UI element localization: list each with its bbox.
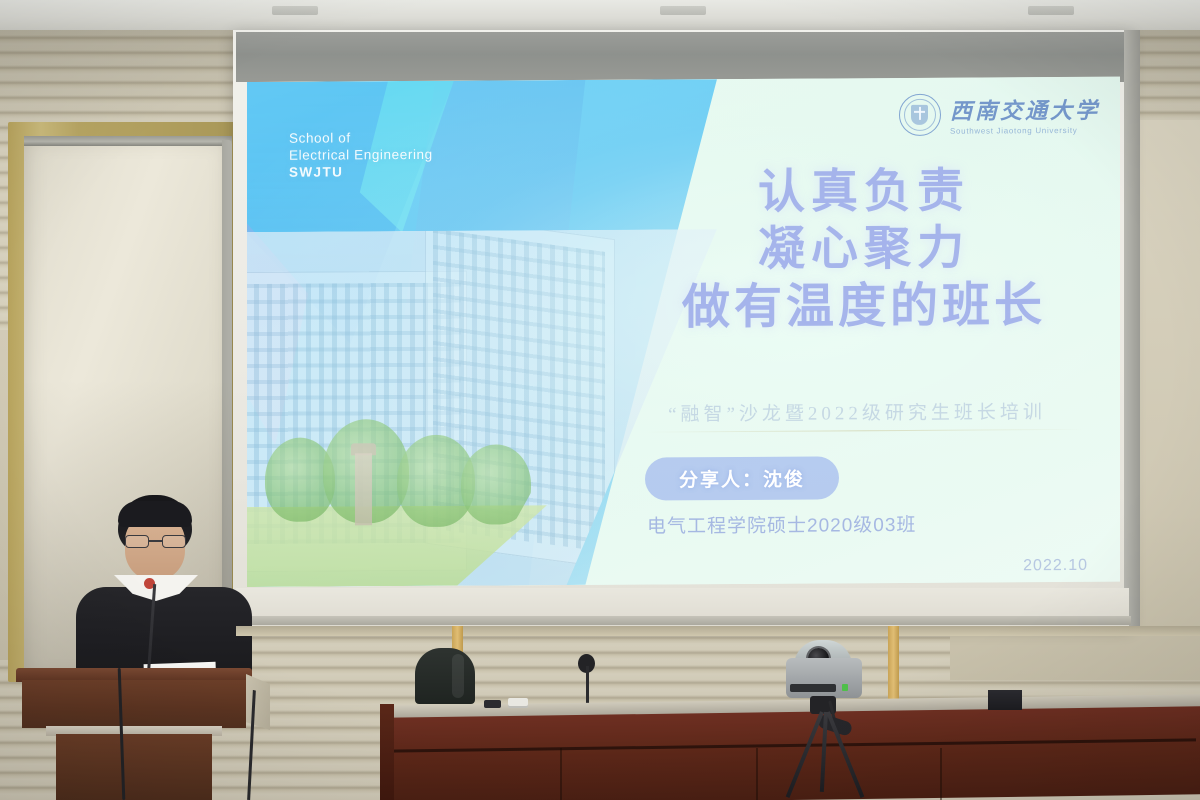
podium-base: [56, 734, 212, 800]
presenter-glasses: [125, 535, 186, 548]
ptz-video-camera: [772, 634, 902, 800]
slide-title-line3: 做有温度的班长: [644, 277, 1084, 337]
school-label-line3: SWJTU: [289, 163, 433, 181]
school-label: School of Electrical Engineering SWJTU: [289, 129, 433, 181]
chair-highlight: [452, 654, 464, 698]
glasses-lens-right: [162, 535, 186, 548]
ceiling: [0, 0, 1200, 30]
podium-body: [22, 680, 246, 728]
ceiling-vent-icon: [272, 6, 318, 15]
camera-body: [786, 658, 862, 698]
screen-top-band: [236, 32, 1129, 82]
projected-slide: School of Electrical Engineering SWJTU 西…: [247, 77, 1120, 587]
table-panel-divider: [756, 748, 758, 800]
campus-monument-base: [355, 453, 372, 525]
presentation-scene: School of Electrical Engineering SWJTU 西…: [0, 0, 1200, 800]
tripod-leg: [786, 711, 824, 798]
glasses-lens-left: [125, 535, 149, 548]
university-crest-icon: [899, 94, 941, 136]
university-logo: 西南交通大学 Southwest Jiaotong University: [899, 93, 1100, 136]
speaker-badge: 分享人：沈俊: [645, 456, 839, 500]
university-name-cn: 西南交通大学: [950, 93, 1100, 126]
table-equipment: [988, 690, 1022, 710]
university-name-block: 西南交通大学 Southwest Jiaotong University: [950, 93, 1100, 136]
table-left-edge: [380, 704, 394, 800]
speaker-affiliation: 电气工程学院硕士2020级03班: [647, 510, 916, 539]
camera-status-led: [842, 684, 848, 691]
slide-title: 认真负责 凝心聚力 做有温度的班长: [644, 163, 1084, 337]
camera-port-strip: [790, 684, 836, 692]
crest-shield-icon: [911, 105, 928, 125]
chair: [415, 648, 475, 704]
table-name-card: [508, 698, 528, 708]
screen-right-trim: [1124, 30, 1140, 630]
table-panel-divider: [940, 748, 942, 800]
table-panel-divider: [560, 748, 562, 800]
ceiling-vent-icon: [1028, 6, 1074, 15]
wall-base-trim: [236, 626, 1200, 636]
slide-subtitle: “融智”沙龙暨2022级研究生班长培训: [622, 397, 1092, 427]
slide-title-line2: 凝心聚力: [644, 220, 1084, 280]
slide-title-line1: 认真负责: [644, 163, 1084, 223]
school-label-line2: Electrical Engineering: [289, 146, 433, 164]
glasses-bridge: [149, 540, 162, 542]
table-remote-device[interactable]: [484, 700, 501, 708]
university-name-en: Southwest Jiaotong University: [950, 126, 1100, 136]
school-label-line1: School of: [289, 129, 433, 147]
window-shade-rail: [24, 136, 232, 146]
screen-bottom-edge: [233, 616, 1131, 625]
ceiling-vent-icon: [660, 6, 706, 15]
podium: [16, 668, 252, 800]
slide-date: 2022.10: [1023, 557, 1088, 575]
presenter-hair-front: [118, 501, 192, 527]
